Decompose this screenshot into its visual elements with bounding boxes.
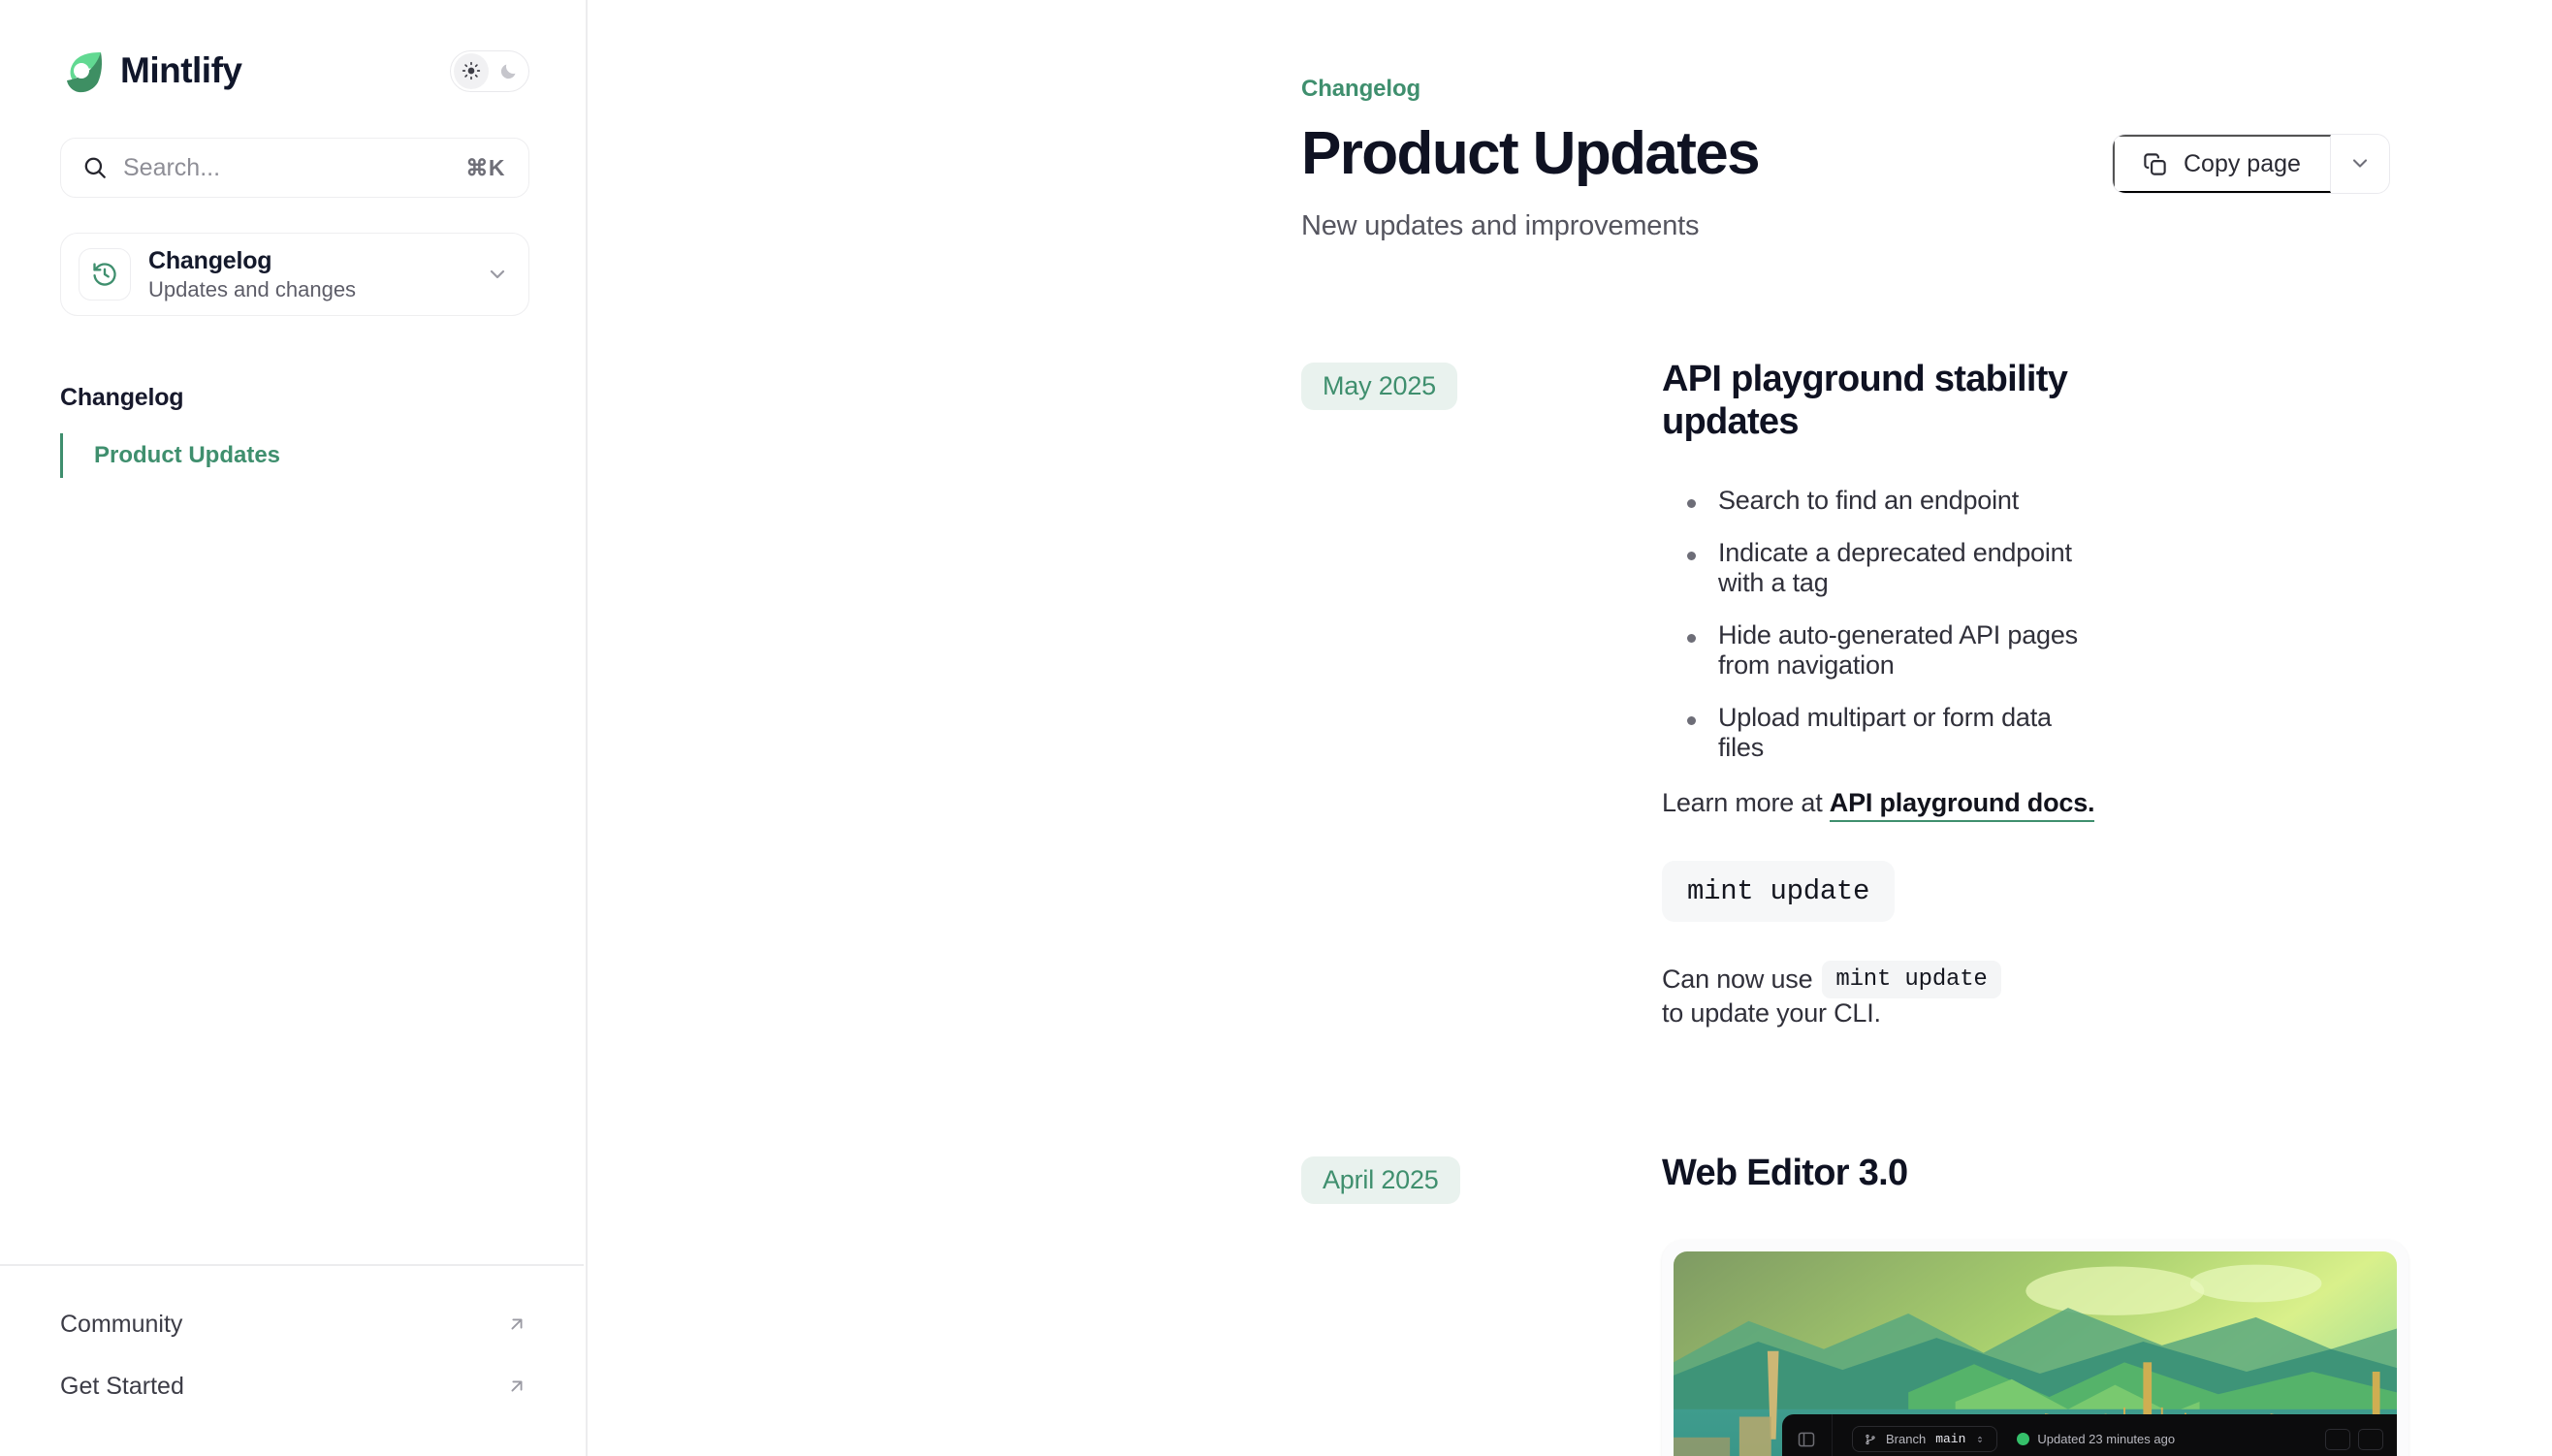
editor-topbar: Branch main Updated 23 minutes ago	[1833, 1414, 2397, 1456]
git-branch-icon	[1865, 1434, 1876, 1445]
entry-body: API playground stability updates Search …	[1662, 359, 2096, 1029]
list-item: Indicate a deprecated endpoint with a ta…	[1662, 538, 2096, 598]
page-title: Product Updates	[1301, 122, 2096, 187]
updated-status: Updated 23 minutes ago	[2017, 1432, 2175, 1446]
history-clock-icon	[79, 248, 131, 301]
cli-suffix: to update your CLI.	[1662, 998, 1881, 1029]
main-inner: Changelog Product Updates New updates an…	[588, 0, 2552, 1456]
status-badge: May 2025	[1301, 363, 1457, 410]
footer-link-label: Get Started	[60, 1373, 184, 1401]
changelog-entry: April 2025 Web Editor 3.0	[1301, 1153, 2096, 1456]
copy-page-group: Copy page	[2112, 134, 2390, 194]
entry-bullet-list: Search to find an endpoint Indicate a de…	[1662, 486, 2096, 763]
api-playground-docs-link[interactable]: API playground docs.	[1830, 788, 2095, 822]
sidebar-top: Mintlify	[0, 0, 586, 316]
list-item: Upload multipart or form data files	[1662, 703, 2096, 763]
copy-page-button[interactable]: Copy page	[2113, 135, 2331, 193]
editor-icon-rail	[1782, 1414, 1833, 1456]
preview-toggle-icon[interactable]	[2325, 1429, 2350, 1450]
web-editor-screenshot: Branch main Updated 23 minutes ago	[1662, 1240, 2408, 1456]
left-sidebar: Mintlify	[0, 0, 588, 1456]
sidebar-item-product-updates[interactable]: Product Updates	[60, 433, 586, 478]
copy-icon	[2142, 151, 2168, 177]
list-item: Hide auto-generated API pages from navig…	[1662, 620, 2096, 681]
search-placeholder: Search...	[123, 154, 465, 182]
branch-label: Branch	[1886, 1432, 1926, 1446]
search-input[interactable]: Search... ⌘K	[60, 138, 529, 198]
brand-logo-link[interactable]: Mintlify	[60, 48, 241, 93]
chevron-up-down-icon	[1975, 1435, 1985, 1444]
product-switcher[interactable]: Changelog Updates and changes	[60, 233, 529, 316]
product-switcher-texts: Changelog Updates and changes	[148, 247, 468, 302]
sidebar-nav: Product Updates	[0, 433, 586, 478]
copy-page-label: Copy page	[2184, 150, 2301, 178]
brand-name: Mintlify	[120, 50, 241, 91]
status-badge: April 2025	[1301, 1156, 1460, 1204]
check-circle-icon	[2017, 1433, 2029, 1445]
chevron-down-icon	[2348, 151, 2372, 177]
footer-link-label: Community	[60, 1311, 182, 1339]
page-subtitle: New updates and improvements	[1301, 210, 2096, 242]
panel-toggle-icon[interactable]	[1797, 1430, 1818, 1451]
chevron-down-icon[interactable]	[486, 263, 509, 286]
sun-icon[interactable]	[454, 53, 489, 89]
split-view-icon[interactable]	[2358, 1429, 2383, 1450]
updated-text: Updated 23 minutes ago	[2037, 1432, 2175, 1446]
sidebar-group-title: Changelog	[60, 384, 586, 412]
entry-title: Web Editor 3.0	[1662, 1153, 2408, 1195]
content-column: Changelog Product Updates New updates an…	[1301, 76, 2096, 1456]
changelog-entries: May 2025 API playground stability update…	[1301, 359, 2096, 1456]
entry-date-column: May 2025	[1301, 359, 1662, 410]
inline-code: mint update	[1822, 961, 2000, 998]
external-link-icon	[506, 1376, 527, 1397]
screenshot-inner: Branch main Updated 23 minutes ago	[1674, 1251, 2397, 1456]
main-content: Changelog Product Updates New updates an…	[588, 0, 2552, 1456]
documentation-page: Mintlify	[0, 0, 2552, 1456]
theme-toggle[interactable]	[450, 50, 529, 92]
moon-icon[interactable]	[491, 53, 526, 89]
search-icon	[82, 155, 108, 180]
changelog-entry: May 2025 API playground stability update…	[1301, 359, 2096, 1029]
search-shortcut: ⌘K	[465, 155, 505, 181]
mintlify-leaf-logo-icon	[60, 48, 105, 93]
learn-more-prefix: Learn more at	[1662, 788, 1830, 817]
entry-date-column: April 2025	[1301, 1153, 1662, 1204]
code-block: mint update	[1662, 861, 1895, 922]
copy-page-dropdown-button[interactable]	[2331, 135, 2389, 193]
editor-tool-icons	[2325, 1429, 2397, 1450]
external-link-icon	[506, 1314, 527, 1335]
learn-more-line: Learn more at API playground docs.	[1662, 788, 2096, 818]
branch-selector[interactable]: Branch main	[1852, 1426, 1997, 1452]
breadcrumb[interactable]: Changelog	[1301, 76, 2096, 103]
branch-name: main	[1935, 1432, 1965, 1446]
sidebar-footer-link-get-started[interactable]: Get Started	[60, 1355, 527, 1417]
brand-row: Mintlify	[60, 45, 529, 97]
list-item: Search to find an endpoint	[1662, 486, 2096, 516]
cli-prefix: Can now use	[1662, 965, 1812, 995]
product-switcher-title: Changelog	[148, 247, 468, 275]
sidebar-footer-link-community[interactable]: Community	[60, 1293, 527, 1355]
editor-panel: Branch main Updated 23 minutes ago	[1782, 1414, 2397, 1456]
sidebar-footer: Community Get Started	[0, 1264, 584, 1456]
entry-body: Web Editor 3.0	[1662, 1153, 2408, 1456]
entry-title: API playground stability updates	[1662, 359, 2096, 443]
product-switcher-subtitle: Updates and changes	[148, 277, 468, 302]
cli-update-line: Can now usemint updateto update your CLI…	[1662, 961, 2096, 1029]
